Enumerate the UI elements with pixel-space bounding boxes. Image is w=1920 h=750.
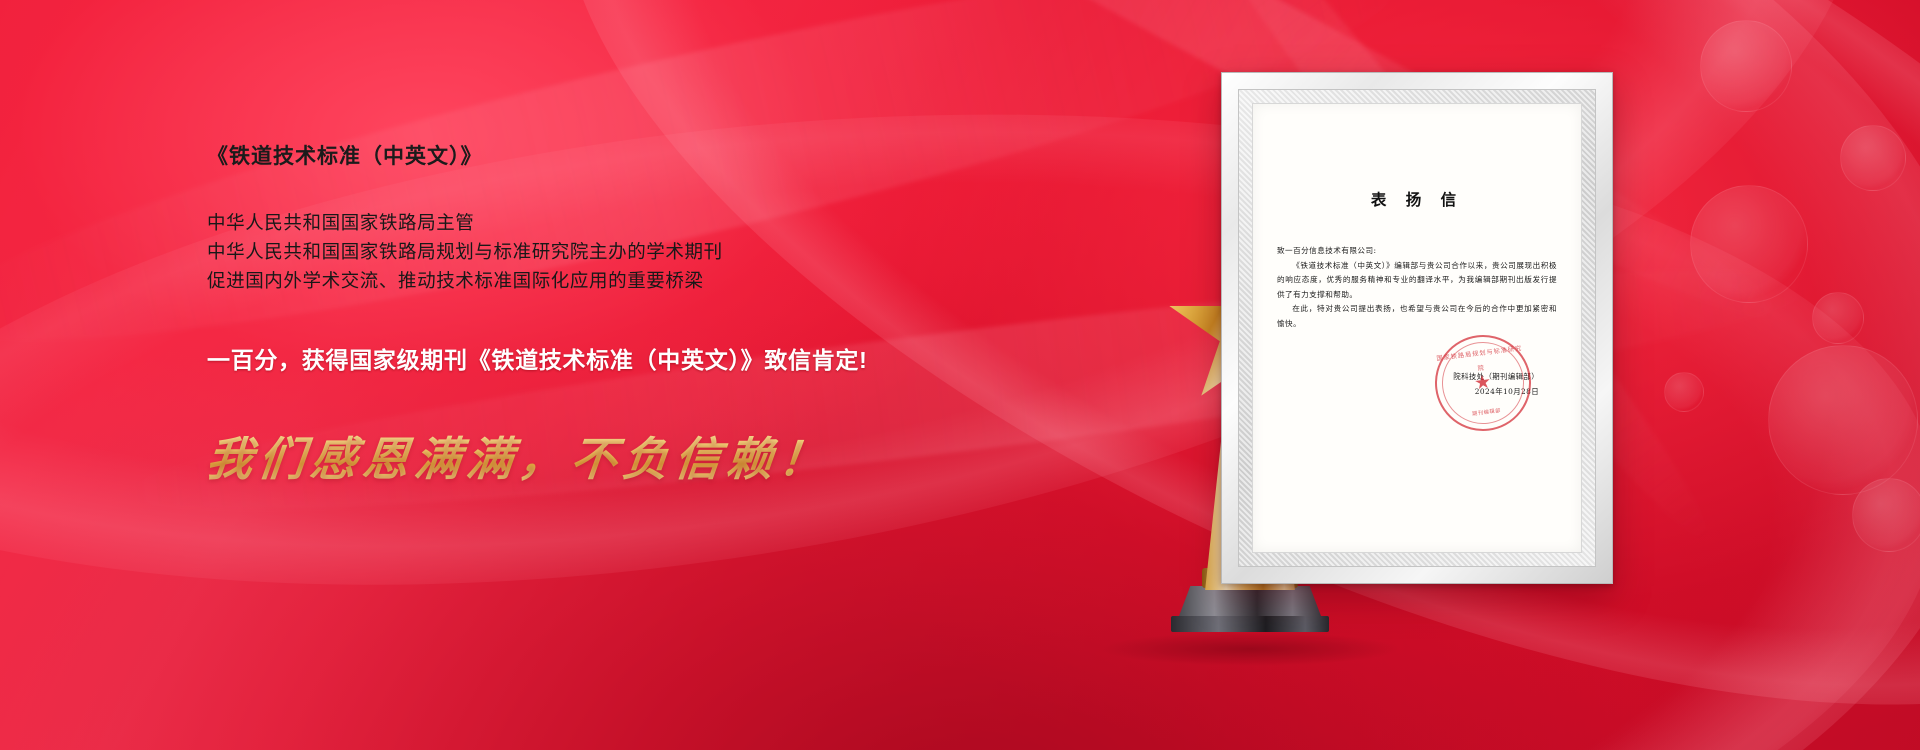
description-line-2: 中华人民共和国国家铁路局规划与标准研究院主办的学术期刊	[207, 237, 1037, 266]
certificate-salutation: 致一百分信息技术有限公司:	[1277, 244, 1557, 259]
left-copy-block: 《铁道技术标准（中英文）》 中华人民共和国国家铁路局主管 中华人民共和国国家铁路…	[207, 140, 1037, 489]
decorative-bubble	[1768, 345, 1918, 495]
journal-title: 《铁道技术标准（中英文）》	[207, 140, 1037, 170]
trophy-base-lower	[1171, 616, 1329, 632]
description-line-3: 促进国内外学术交流、推动技术标准国际化应用的重要桥梁	[207, 266, 1037, 295]
decorative-bubble	[1690, 185, 1808, 303]
headline: 一百分，获得国家级期刊《铁道技术标准（中英文）》致信肯定!	[207, 341, 1037, 375]
decorative-bubble	[1700, 20, 1792, 112]
banner-background: 《铁道技术标准（中英文）》 中华人民共和国国家铁路局主管 中华人民共和国国家铁路…	[0, 0, 1920, 750]
seal-star-icon: ★	[1473, 373, 1493, 394]
certificate-paper: 表 扬 信 致一百分信息技术有限公司: 《铁道技术标准（中英文）》编辑部与贵公司…	[1252, 103, 1582, 553]
decorative-bubble	[1852, 478, 1920, 552]
red-seal-stamp-icon: 国家铁路局规划与标准研究院 ★ 期刊编辑部	[1430, 330, 1537, 437]
certificate-paragraph-2: 在此，特对贵公司提出表扬，也希望与贵公司在今后的合作中更加紧密和愉快。	[1277, 302, 1557, 331]
certificate-signature-block: 国家铁路局规划与标准研究院 ★ 期刊编辑部 院科技处（期刊编辑部） 2024年1…	[1277, 369, 1557, 399]
calligraphy-slogan: 我们感恩满满，不负信赖！	[204, 423, 835, 489]
decorative-bubble	[1812, 292, 1864, 344]
decorative-bubble	[1840, 125, 1906, 191]
certificate-frame: 表 扬 信 致一百分信息技术有限公司: 《铁道技术标准（中英文）》编辑部与贵公司…	[1221, 72, 1613, 584]
certificate-title: 表 扬 信	[1277, 188, 1557, 210]
trophy-base-upper	[1179, 586, 1321, 616]
description-line-1: 中华人民共和国国家铁路局主管	[207, 208, 1037, 237]
decorative-bubble	[1664, 372, 1704, 412]
certificate-paragraph-1: 《铁道技术标准（中英文）》编辑部与贵公司合作以来，贵公司展现出积极的响应态度，优…	[1277, 259, 1557, 303]
trophy-shadow	[1100, 632, 1400, 666]
